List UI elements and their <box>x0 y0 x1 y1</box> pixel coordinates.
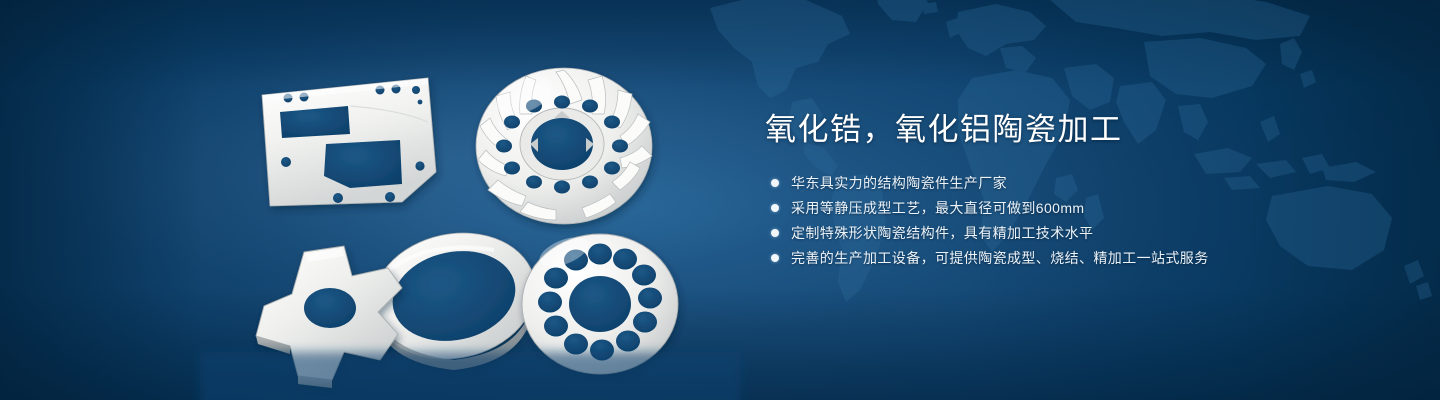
bullet-dot-icon <box>771 229 779 237</box>
feature-text: 完善的生产加工设备，可提供陶瓷成型、烧结、精加工一站式服务 <box>791 250 1209 266</box>
feature-list-item: 完善的生产加工设备，可提供陶瓷成型、烧结、精加工一站式服务 <box>771 247 1325 269</box>
feature-list: 华东具实力的结构陶瓷件生产厂家 采用等静压成型工艺，最大直径可做到600mm 定… <box>771 172 1325 269</box>
feature-list-item: 华东具实力的结构陶瓷件生产厂家 <box>771 172 1325 194</box>
feature-list-item: 采用等静压成型工艺，最大直径可做到600mm <box>771 197 1325 219</box>
bullet-dot-icon <box>771 254 779 262</box>
bullet-dot-icon <box>771 204 779 212</box>
banner-headline: 氧化锆，氧化铝陶瓷加工 <box>765 110 1325 150</box>
ceramic-vaned-impeller <box>476 68 652 224</box>
feature-text: 华东具实力的结构陶瓷件生产厂家 <box>791 175 1007 191</box>
ceramic-machined-plate <box>262 78 436 206</box>
feature-text: 定制特殊形状陶瓷结构件，具有精加工技术水平 <box>791 225 1093 241</box>
product-photo-group <box>230 40 700 385</box>
banner-copy: 氧化锆，氧化铝陶瓷加工 华东具实力的结构陶瓷件生产厂家 采用等静压成型工艺，最大… <box>765 110 1325 272</box>
feature-text: 采用等静压成型工艺，最大直径可做到600mm <box>791 200 1084 216</box>
feature-list-item: 定制特殊形状陶瓷结构件，具有精加工技术水平 <box>771 222 1325 244</box>
bullet-dot-icon <box>771 179 779 187</box>
promo-banner: 氧化锆，氧化铝陶瓷加工 华东具实力的结构陶瓷件生产厂家 采用等静压成型工艺，最大… <box>0 0 1440 400</box>
